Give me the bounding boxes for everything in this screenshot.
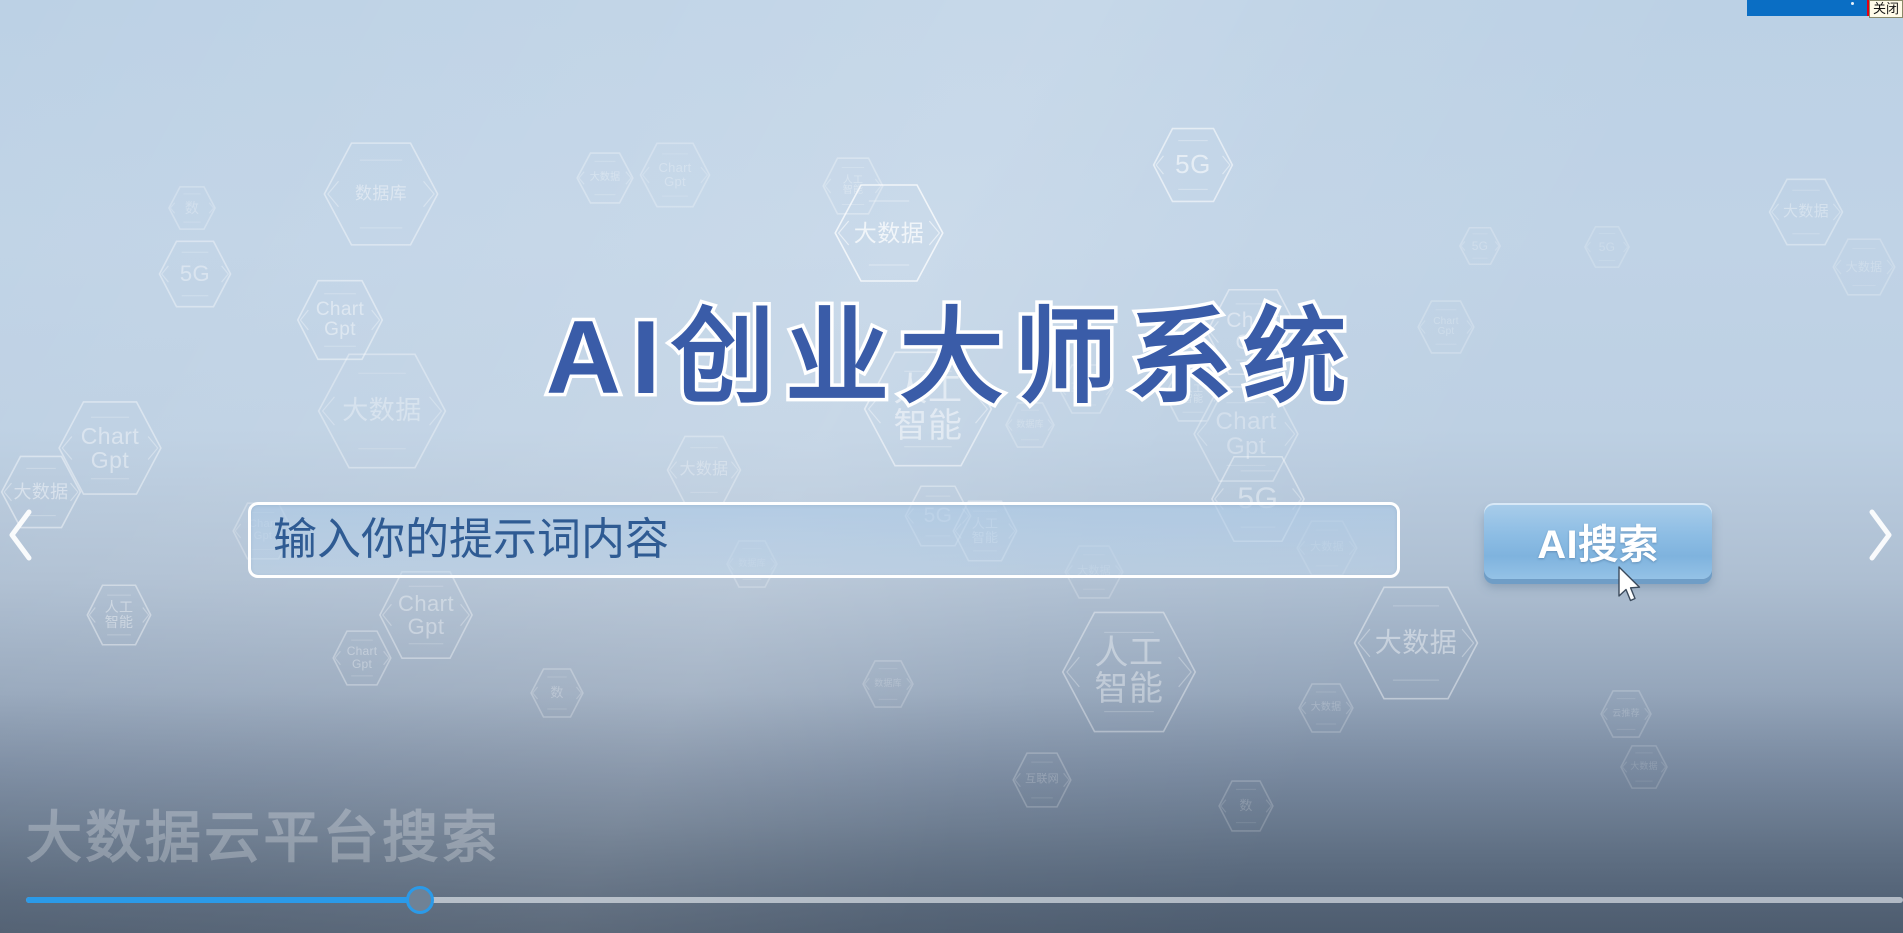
hero-content: AI创业大师系统 AI搜索 大数据云平台搜索 [0,0,1903,933]
chevron-left-icon [6,508,36,562]
slider-fill [26,897,420,903]
carousel-next-button[interactable] [1857,497,1903,573]
watermark-text: 大数据云平台搜索 [26,793,501,874]
page-title: AI创业大师系统 [0,272,1903,423]
search-input-container[interactable] [248,502,1400,578]
close-tooltip: 关闭 [1869,0,1903,18]
search-row: AI搜索 [248,502,1903,582]
hero-stage: 数据库大数据Chart Gpt大数据人工 智能5G大数据5G5GChart Gp… [0,0,1903,933]
search-input[interactable] [251,505,1397,575]
chevron-right-icon [1865,508,1895,562]
window-chrome-blue-strip [1747,0,1867,16]
carousel-prev-button[interactable] [0,497,44,573]
bottom-slider[interactable] [0,871,1903,933]
ai-search-button[interactable]: AI搜索 [1484,503,1712,579]
slider-handle[interactable] [406,886,434,914]
chrome-dot-icon [1851,2,1854,5]
